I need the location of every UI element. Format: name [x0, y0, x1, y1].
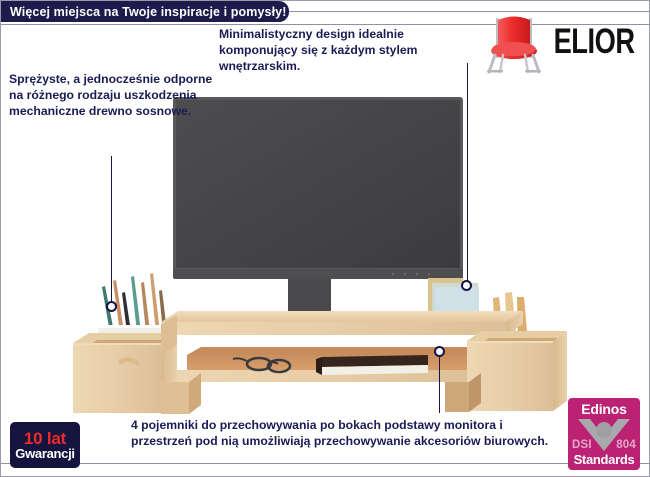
callout-line-design	[467, 63, 468, 286]
note-storage: 4 pojemniki do przechowywania po bokach …	[131, 418, 551, 450]
edinos-standards-label: Standards	[568, 452, 640, 467]
header-banner-text: Więcej miejsca na Twoje inspiracje i pom…	[10, 5, 287, 19]
callout-marker-design	[461, 280, 472, 291]
edinos-code-left: DSI	[572, 439, 592, 451]
warranty-label: Gwarancji	[15, 447, 74, 461]
edinos-name: Edinos	[568, 401, 640, 417]
right-storage-bin	[467, 331, 567, 411]
edinos-code-right: 804	[616, 439, 636, 451]
warranty-badge: 10 lat Gwarancji	[10, 422, 80, 468]
stand-top-deck	[161, 311, 523, 335]
brand-logo: ELIOR	[481, 9, 641, 75]
infographic-canvas: Więcej miejsca na Twoje inspiracje i pom…	[0, 0, 650, 477]
warranty-years: 10 lat	[24, 430, 66, 447]
callout-line-storage	[439, 351, 440, 413]
callout-marker-storage	[434, 346, 445, 357]
callout-line-pine-wood	[111, 156, 112, 306]
note-design: Minimalistyczny design idealnie komponuj…	[219, 27, 469, 75]
book	[316, 355, 428, 375]
footer-rule	[1, 463, 650, 464]
callout-marker-pine-wood	[106, 301, 117, 312]
monitor-graphic	[173, 97, 463, 331]
header-banner: Więcej miejsca na Twoje inspiracje i pom…	[1, 1, 289, 22]
brand-name: ELIOR	[553, 22, 634, 62]
edinos-standards-badge: Edinos DSI 804 Standards	[568, 398, 640, 470]
note-pine-wood: Sprężyste, a jednocześnie odporne na róż…	[9, 72, 214, 120]
red-chair-icon	[483, 10, 545, 74]
